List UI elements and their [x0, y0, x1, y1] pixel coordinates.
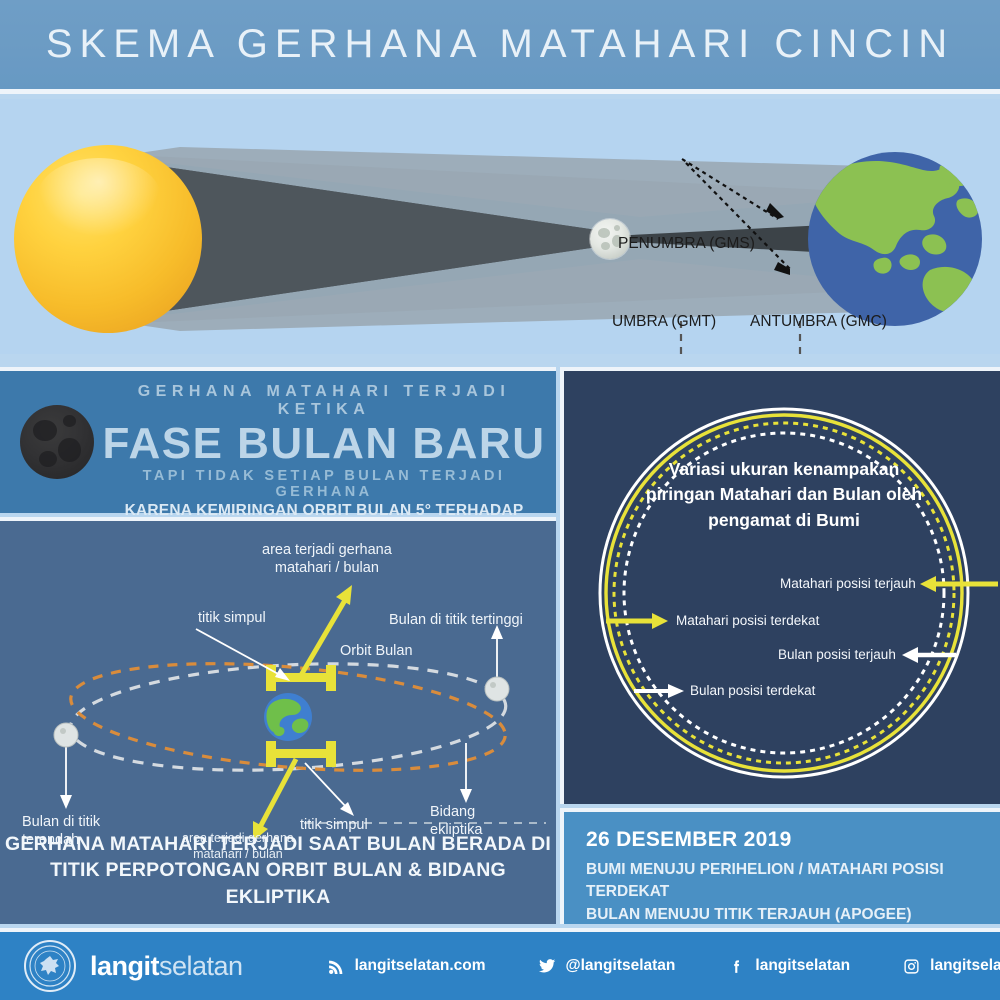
new-moon-icon — [20, 405, 94, 479]
label-area-eclipse-top-l2: matahari / bulan — [262, 559, 392, 577]
label-moon-farthest: Bulan posisi terjauh — [778, 647, 896, 662]
orbit-caption-l1: GERHANA MATAHARI TERJADI SAAT BULAN BERA… — [0, 831, 556, 857]
label-moon-lowest-l1: Bulan di titik — [22, 813, 100, 831]
twitter-handle: @langitselatan — [566, 957, 676, 975]
event-date-panel: 26 DESEMBER 2019 BUMI MENUJU PERIHELION … — [560, 808, 1000, 924]
label-sun-farthest: Matahari posisi terjauh — [780, 576, 916, 591]
new-moon-text-block: GERHANA MATAHARI TERJADI KETIKA FASE BUL… — [100, 383, 548, 538]
rings-title-l1: Variasi ukuran kenampakan — [622, 457, 946, 482]
orbit-caption: GERHANA MATAHARI TERJADI SAAT BULAN BERA… — [0, 831, 556, 910]
node-marker-bottom — [266, 741, 336, 767]
rss-icon — [327, 957, 346, 976]
label-moon-highest: Bulan di titik tertinggi — [389, 611, 523, 629]
rings-title: Variasi ukuran kenampakan piringan Matah… — [622, 457, 946, 533]
label-moon-nearest: Bulan posisi terdekat — [690, 683, 815, 698]
instagram-icon — [902, 957, 921, 976]
header-bar: SKEMA GERHANA MATAHARI CINCIN — [0, 0, 1000, 94]
brand-bold: langit — [90, 951, 159, 981]
rings-title-l2: piringan Matahari dan Bulan oleh — [622, 482, 946, 507]
label-sun-nearest: Matahari posisi terdekat — [676, 613, 819, 628]
orbit-node-diagram: area terjadi gerhana matahari / bulan ti… — [0, 517, 556, 924]
label-area-eclipse-top-l1: area terjadi gerhana — [262, 541, 392, 559]
facebook-icon — [727, 957, 746, 976]
label-orbit-bulan: Orbit Bulan — [340, 642, 413, 660]
event-details-l1: BUMI MENUJU PERIHELION / MATAHARI POSISI… — [586, 859, 1000, 904]
twitter-icon — [538, 957, 557, 976]
brand-wordmark[interactable]: langitselatan — [90, 951, 243, 982]
label-area-eclipse-top: area terjadi gerhana matahari / bulan — [262, 541, 392, 577]
footer-bar: langitselatan langitselatan.com @langits… — [0, 928, 1000, 1000]
band-line-1: GERHANA MATAHARI TERJADI KETIKA — [100, 383, 548, 419]
label-node-top: titik simpul — [198, 609, 266, 627]
event-details: BUMI MENUJU PERIHELION / MATAHARI POSISI… — [586, 859, 1000, 926]
brand-light: selatan — [159, 951, 243, 981]
instagram-handle: langitselatanmedia — [930, 957, 1000, 975]
page-title: SKEMA GERHANA MATAHARI CINCIN — [46, 22, 954, 67]
label-penumbra: PENUMBRA (GMS) — [618, 235, 755, 253]
social-links: langitselatan.com @langitselatan langits… — [327, 957, 1000, 976]
label-antumbra: ANTUMBRA (GMC) — [750, 313, 887, 331]
new-moon-phase-band: GERHANA MATAHARI TERJADI KETIKA FASE BUL… — [0, 367, 556, 513]
langitselatan-logo-icon[interactable] — [24, 940, 76, 992]
rings-title-l3: pengamat di Bumi — [622, 508, 946, 533]
infographic-root: SKEMA GERHANA MATAHARI CINCIN — [0, 0, 1000, 1000]
facebook-handle: langitselatan — [755, 957, 850, 975]
label-umbra: UMBRA (GMT) — [612, 313, 716, 331]
band-line-2: FASE BULAN BARU — [100, 421, 548, 467]
eclipse-geometry-diagram: PENUMBRA (GMS) UMBRA (GMT) ANTUMBRA (GMC… — [0, 99, 1000, 354]
sun-sphere — [14, 145, 202, 333]
band-line-3: TAPI TIDAK SETIAP BULAN TERJADI GERHANA — [100, 468, 548, 500]
label-ecliptic-plane-l1: Bidang — [430, 803, 482, 821]
event-details-l2: BULAN MENUJU TITIK TERJAUH (APOGEE) — [586, 904, 1000, 926]
earth-sphere — [808, 152, 982, 326]
facebook-link[interactable]: langitselatan — [727, 957, 850, 976]
instagram-link[interactable]: langitselatanmedia — [902, 957, 1000, 976]
website-label: langitselatan.com — [355, 957, 486, 975]
twitter-link[interactable]: @langitselatan — [538, 957, 676, 976]
website-link[interactable]: langitselatan.com — [327, 957, 486, 976]
orbit-caption-l2: TITIK PERPOTONGAN ORBIT BULAN & BIDANG E… — [0, 857, 556, 910]
apparent-size-diagram: Variasi ukuran kenampakan piringan Matah… — [560, 367, 1000, 804]
event-date: 26 DESEMBER 2019 — [586, 828, 1000, 852]
logo-emblem — [26, 942, 74, 990]
earth-continents — [808, 152, 982, 326]
